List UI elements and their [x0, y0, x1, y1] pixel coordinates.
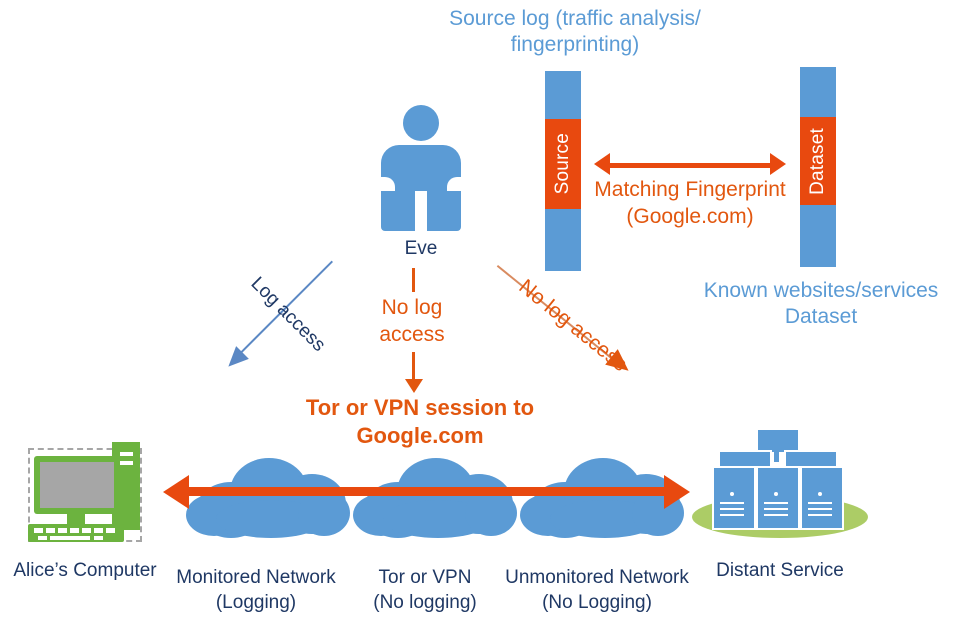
person-icon [381, 105, 461, 233]
known-dataset-label: Known websites/services Dataset [690, 278, 952, 330]
service-tower-right-slot [808, 508, 832, 510]
service-tower-center-slot [764, 514, 788, 516]
session-flow-head-left [163, 475, 189, 509]
eve-label: Eve [371, 236, 471, 261]
service-tower-center [756, 466, 800, 530]
session-line2: Google.com [290, 422, 550, 450]
person-arm-right [447, 177, 461, 191]
service-tower-left-led [730, 492, 734, 496]
network-label-tor-vpn-line1: Tor or VPN [355, 565, 495, 590]
service-tower-right [800, 466, 844, 530]
computer-key [94, 536, 103, 540]
matching-arrow-head-right [770, 153, 786, 175]
network-label-monitored: Monitored Network (Logging) [161, 565, 351, 615]
computer-screen [40, 462, 114, 508]
computer-key [50, 536, 90, 540]
dataset-bar[interactable]: Dataset [800, 67, 836, 267]
distant-service-icon [690, 420, 870, 545]
no-log-access-center-line2: access [352, 321, 472, 348]
session-label: Tor or VPN session to Google.com [290, 394, 550, 450]
dataset-bar-bottom-segment [800, 205, 836, 267]
person-head [403, 105, 439, 141]
computer-key [38, 536, 47, 540]
source-log-heading: Source log (traffic analysis/ fingerprin… [430, 6, 720, 58]
session-line1: Tor or VPN session to [290, 394, 550, 422]
network-label-unmonitored-line1: Unmonitored Network [497, 565, 697, 590]
source-log-heading-line2: fingerprinting) [430, 32, 720, 58]
dataset-bar-match-segment: Dataset [800, 117, 836, 205]
matching-arrow-shaft [607, 163, 773, 168]
matching-arrow-head-left [594, 153, 610, 175]
matching-label-line2: (Google.com) [594, 203, 786, 230]
matching-label-line1: Matching Fingerprint [594, 176, 786, 203]
service-connector-vertical [774, 448, 779, 462]
service-tower-left-slot [720, 514, 744, 516]
source-bar-top-segment [545, 71, 581, 119]
source-log-heading-line1: Source log (traffic analysis/ [430, 6, 720, 32]
dataset-bar-label: Dataset [807, 128, 829, 195]
session-flow-shaft [187, 487, 666, 496]
computer-key [94, 528, 103, 533]
distant-service-label: Distant Service [690, 558, 870, 583]
network-label-tor-vpn: Tor or VPN (No logging) [355, 565, 495, 615]
person-legs-gap [415, 191, 427, 231]
computer-tower-slot1 [120, 452, 133, 456]
computer-key [82, 528, 91, 533]
service-tower-left-slot [720, 508, 744, 510]
session-flow-arrow [163, 474, 690, 510]
computer-key [34, 528, 43, 533]
source-bar-match-segment: Source [545, 119, 581, 209]
computer-key [106, 528, 115, 533]
no-log-access-center-arrow-head [405, 379, 423, 393]
no-log-access-center-shaft-bottom [412, 352, 415, 380]
computer-monitor-stand [67, 514, 85, 524]
session-flow-head-right [664, 475, 690, 509]
source-bar-label: Source [552, 133, 574, 194]
network-label-unmonitored: Unmonitored Network (No Logging) [497, 565, 697, 615]
service-tower-left-slot [720, 502, 744, 504]
service-tower-center-slot [764, 502, 788, 504]
service-tower-right-led [818, 492, 822, 496]
service-tower-right-slot [808, 514, 832, 516]
network-label-monitored-line1: Monitored Network [161, 565, 351, 590]
computer-key [46, 528, 55, 533]
computer-key [70, 528, 79, 533]
matching-fingerprint-arrow [594, 160, 786, 168]
source-bar[interactable]: Source [545, 71, 581, 271]
alice-computer-icon [20, 440, 150, 550]
dataset-bar-top-segment [800, 67, 836, 117]
no-log-access-right-label: No log access [510, 271, 636, 380]
service-tower-left [712, 466, 756, 530]
log-access-label: Log access [237, 263, 340, 366]
alice-computer-label: Alice’s Computer [0, 558, 170, 583]
computer-tower-slot2 [120, 461, 133, 465]
network-label-unmonitored-line2: (No Logging) [497, 590, 697, 615]
computer-key [58, 528, 67, 533]
no-log-access-center-label: No log access [352, 294, 472, 348]
matching-fingerprint-label: Matching Fingerprint (Google.com) [594, 176, 786, 230]
service-tower-right-slot [808, 502, 832, 504]
no-log-access-center-line1: No log [352, 294, 472, 321]
network-label-tor-vpn-line2: (No logging) [355, 590, 495, 615]
known-dataset-line1: Known websites/services [690, 278, 952, 304]
network-label-monitored-line2: (Logging) [161, 590, 351, 615]
known-dataset-line2: Dataset [690, 304, 952, 330]
service-tower-center-slot [764, 508, 788, 510]
source-bar-bottom-segment [545, 209, 581, 271]
service-tower-center-led [774, 492, 778, 496]
no-log-access-center-shaft-top [412, 268, 415, 292]
